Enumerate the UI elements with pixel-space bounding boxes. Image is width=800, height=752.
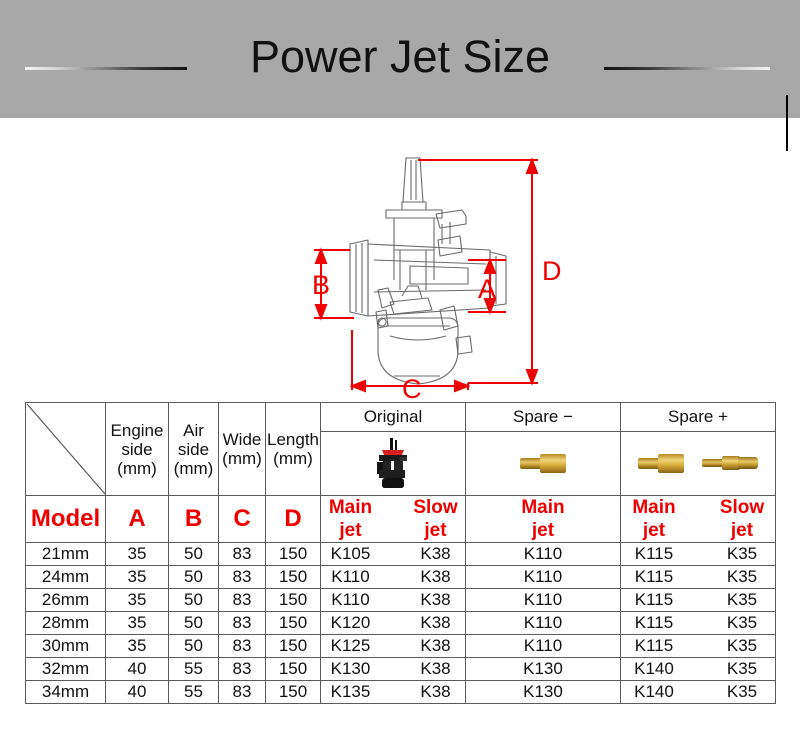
- cell-c: 83: [219, 635, 266, 658]
- column-header-wide: Wide (mm): [219, 403, 266, 496]
- cell-a: 35: [106, 543, 169, 566]
- hdr-wide-line2: (mm): [219, 449, 265, 468]
- cell-original-main-jet-group: K110K38: [321, 566, 466, 589]
- cell-a: 40: [106, 681, 169, 704]
- page-title: Power Jet Size: [0, 30, 800, 84]
- diagonal-divider-icon: [26, 403, 106, 495]
- cell-a: 40: [106, 658, 169, 681]
- cell-b: 50: [169, 566, 219, 589]
- cell-original-slow-jet: K38: [406, 613, 465, 633]
- label-spare-minus-main-jet: Main jet: [521, 497, 564, 541]
- cell-a: 35: [106, 566, 169, 589]
- cell-spare-plus-main-jet: K115: [623, 636, 685, 656]
- image-cell-original: [321, 431, 466, 495]
- carburetor-diagram: B A D C: [290, 140, 570, 402]
- cell-spare-plus-slow-jet: K35: [711, 544, 773, 564]
- label-model: Model: [31, 505, 100, 532]
- cell-model: 21mm: [26, 543, 106, 566]
- cell-spare-minus-main-jet: K130: [466, 681, 621, 704]
- cell-original-slow-jet: K38: [406, 636, 465, 656]
- brass-slow-jet-icon: [702, 456, 758, 470]
- cell-model: 24mm: [26, 566, 106, 589]
- dimension-label-a: A: [478, 274, 496, 304]
- cell-original-main-jet-group: K105K38: [321, 543, 466, 566]
- cell-spare-plus-slow-jet: K35: [711, 613, 773, 633]
- cell-spare-plus-main-jet: K140: [623, 659, 685, 679]
- table-data-body: 21mm355083150K105K38K110K115K3524mm35508…: [26, 543, 776, 704]
- dimension-label-c: C: [402, 374, 422, 402]
- cell-spare-plus-main-jet: K140: [623, 682, 685, 702]
- cell-original-main-jet-group: K125K38: [321, 635, 466, 658]
- table-row: 32mm405583150K130K38K130K140K35: [26, 658, 776, 681]
- hdr-air-line2: side: [169, 440, 218, 459]
- label-b: B: [185, 505, 202, 532]
- cell-spare-plus-main-jet: K115: [623, 613, 685, 633]
- table-row: 34mm405583150K135K38K130K140K35: [26, 681, 776, 704]
- cell-d: 150: [266, 543, 321, 566]
- column-header-engine-side: Engine side (mm): [106, 403, 169, 496]
- hdr-length-line2: (mm): [266, 449, 320, 468]
- hdr-air-line3: (mm): [169, 459, 218, 478]
- dimension-label-d: D: [542, 256, 562, 286]
- cell-original-slow-jet: K38: [406, 659, 465, 679]
- cell-model: 26mm: [26, 589, 106, 612]
- label-original-main-jet: Main jet: [321, 496, 380, 542]
- cell-spare-plus-main-jet-group: K115K35: [621, 566, 776, 589]
- cell-c: 83: [219, 566, 266, 589]
- carburetor-photo-icon: [373, 437, 413, 489]
- table-row: 24mm355083150K110K38K110K115K35: [26, 566, 776, 589]
- label-spare-plus-main-jet: Main jet: [623, 496, 685, 542]
- label-original-slow-jet: Slow jet: [406, 496, 465, 542]
- cell-spare-plus-main-jet-group: K115K35: [621, 635, 776, 658]
- group-header-spare-plus: Spare +: [621, 403, 776, 432]
- cell-model: 28mm: [26, 612, 106, 635]
- cell-original-main-jet: K120: [321, 613, 380, 633]
- table-header-row-groups: Engine side (mm) Air side (mm) Wide (mm)…: [26, 403, 776, 432]
- cell-original-slow-jet: K38: [406, 567, 465, 587]
- cell-d: 150: [266, 681, 321, 704]
- cell-spare-plus-slow-jet: K35: [711, 659, 773, 679]
- brass-main-jet-icon: [638, 454, 684, 473]
- label-a: A: [128, 505, 145, 532]
- label-d: D: [284, 505, 301, 532]
- cell-spare-plus-slow-jet: K35: [711, 567, 773, 587]
- cell-original-main-jet: K110: [321, 567, 380, 587]
- corner-diagonal-cell: [26, 403, 106, 496]
- brass-main-jet-icon: [520, 454, 566, 473]
- image-cell-spare-plus: [621, 431, 776, 495]
- cell-d: 150: [266, 589, 321, 612]
- cell-original-slow-jet: K38: [406, 544, 465, 564]
- power-jet-size-table: Engine side (mm) Air side (mm) Wide (mm)…: [25, 402, 776, 704]
- cell-spare-minus-main-jet: K110: [466, 566, 621, 589]
- cell-original-main-jet-group: K110K38: [321, 589, 466, 612]
- cell-a: 35: [106, 612, 169, 635]
- cell-c: 83: [219, 589, 266, 612]
- cell-model: 30mm: [26, 635, 106, 658]
- column-header-air-side: Air side (mm): [169, 403, 219, 496]
- cell-original-main-jet: K110: [321, 590, 380, 610]
- cell-b: 50: [169, 635, 219, 658]
- cell-b: 50: [169, 612, 219, 635]
- cell-spare-plus-slow-jet: K35: [711, 682, 773, 702]
- cell-d: 150: [266, 612, 321, 635]
- cell-d: 150: [266, 658, 321, 681]
- group-header-original: Original: [321, 403, 466, 432]
- cell-spare-plus-main-jet: K115: [623, 544, 685, 564]
- cell-original-main-jet: K105: [321, 544, 380, 564]
- cell-d: 150: [266, 635, 321, 658]
- cell-original-main-jet: K130: [321, 659, 380, 679]
- table-row: 30mm355083150K125K38K110K115K35: [26, 635, 776, 658]
- cell-original-main-jet: K125: [321, 636, 380, 656]
- cell-model: 34mm: [26, 681, 106, 704]
- cell-c: 83: [219, 681, 266, 704]
- cell-original-main-jet-group: K135K38: [321, 681, 466, 704]
- table-header-row-labels: Model A B C D Main jet Slow jet: [26, 496, 776, 543]
- cell-original-slow-jet: K38: [406, 590, 465, 610]
- hdr-engine-line1: Engine: [106, 421, 168, 440]
- right-edge-tick: [786, 95, 788, 151]
- hdr-air-line1: Air: [169, 421, 218, 440]
- hdr-wide-line1: Wide: [219, 430, 265, 449]
- cell-original-main-jet-group: K120K38: [321, 612, 466, 635]
- cell-b: 50: [169, 543, 219, 566]
- table-row: 21mm355083150K105K38K110K115K35: [26, 543, 776, 566]
- cell-spare-plus-slow-jet: K35: [711, 590, 773, 610]
- label-c: C: [233, 505, 250, 532]
- cell-d: 150: [266, 566, 321, 589]
- hdr-engine-line2: side: [106, 440, 168, 459]
- cell-spare-plus-main-jet-group: K115K35: [621, 612, 776, 635]
- table-row: 26mm355083150K110K38K110K115K35: [26, 589, 776, 612]
- cell-spare-plus-main-jet: K115: [623, 590, 685, 610]
- cell-spare-plus-main-jet-group: K115K35: [621, 543, 776, 566]
- cell-spare-minus-main-jet: K110: [466, 543, 621, 566]
- cell-b: 50: [169, 589, 219, 612]
- hdr-engine-line3: (mm): [106, 459, 168, 478]
- cell-b: 55: [169, 658, 219, 681]
- cell-c: 83: [219, 612, 266, 635]
- cell-model: 32mm: [26, 658, 106, 681]
- label-spare-plus-slow-jet: Slow jet: [711, 496, 773, 542]
- hdr-length-line1: Length: [266, 430, 320, 449]
- column-header-length: Length (mm): [266, 403, 321, 496]
- page-banner: Power Jet Size: [0, 0, 800, 118]
- image-cell-spare-minus: [466, 431, 621, 495]
- cell-spare-minus-main-jet: K110: [466, 589, 621, 612]
- dimension-label-b: B: [312, 270, 330, 300]
- cell-spare-plus-slow-jet: K35: [711, 636, 773, 656]
- cell-original-main-jet-group: K130K38: [321, 658, 466, 681]
- cell-c: 83: [219, 658, 266, 681]
- cell-spare-plus-main-jet: K115: [623, 567, 685, 587]
- cell-spare-minus-main-jet: K130: [466, 658, 621, 681]
- cell-b: 55: [169, 681, 219, 704]
- cell-spare-plus-main-jet-group: K140K35: [621, 681, 776, 704]
- cell-spare-minus-main-jet: K110: [466, 635, 621, 658]
- cell-a: 35: [106, 635, 169, 658]
- cell-spare-plus-main-jet-group: K115K35: [621, 589, 776, 612]
- cell-spare-plus-main-jet-group: K140K35: [621, 658, 776, 681]
- cell-original-main-jet: K135: [321, 682, 380, 702]
- cell-a: 35: [106, 589, 169, 612]
- table-row: 28mm355083150K120K38K110K115K35: [26, 612, 776, 635]
- cell-original-slow-jet: K38: [406, 682, 465, 702]
- cell-spare-minus-main-jet: K110: [466, 612, 621, 635]
- group-header-spare-minus: Spare −: [466, 403, 621, 432]
- cell-c: 83: [219, 543, 266, 566]
